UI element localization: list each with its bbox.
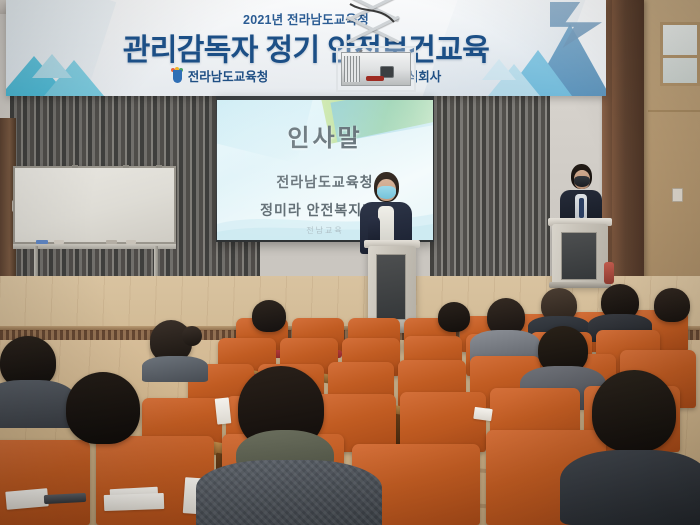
projector-cable-connector: [366, 76, 384, 81]
attendee-hair-bun-a4: [182, 326, 202, 346]
seat-row-e-1[interactable]: [0, 440, 90, 525]
event-banner: 2021년 전라남도교육청 관리감독자 정기 안전보건교육 전라남도교육청 안 …: [6, 0, 606, 96]
jeonnam-education-office-logo-icon: [171, 68, 184, 83]
attendee-head-a2: [66, 372, 140, 444]
attendee-shoulders-a4: [142, 356, 208, 382]
whiteboard-marker-grey[interactable]: [106, 240, 117, 244]
side-staff-tie: [579, 198, 584, 218]
ceiling-projector-assembly: [332, 0, 420, 92]
attendee-shoulders-a3: [0, 380, 76, 428]
main-podium-panel: [376, 254, 406, 320]
fire-extinguisher: [604, 262, 614, 284]
side-staff-face-mask: [574, 176, 590, 187]
handout-paper-d-2[interactable]: [473, 407, 492, 421]
banner-text-block: 2021년 전라남도교육청 관리감독자 정기 안전보건교육 전라남도교육청 안 …: [6, 0, 606, 96]
mobile-whiteboard: [13, 166, 176, 244]
projector-vent-icon: [344, 56, 360, 82]
banner-org-left-group: 전라남도교육청: [171, 66, 269, 85]
attendee-head-a7: [438, 302, 470, 332]
attendee-shoulders-a1: [196, 460, 382, 525]
presenter-face-mask: [377, 186, 396, 199]
whiteboard-clip-1: [72, 165, 78, 168]
wall-trim-line: [648, 110, 700, 112]
handout-paper-d-1[interactable]: [215, 397, 232, 424]
whiteboard-clip-3: [156, 165, 162, 168]
banner-organization-row: 전라남도교육청 안 주식회사: [6, 66, 606, 85]
auditorium-scene: 2021년 전라남도교육청 관리감독자 정기 안전보건교육 전라남도교육청 안 …: [0, 0, 700, 525]
handout-paper-e-3[interactable]: [104, 493, 165, 511]
window-mullion: [663, 55, 697, 58]
slide-title: 인사말: [217, 118, 433, 153]
attendee-shoulders-a12: [560, 450, 700, 525]
whiteboard-marker-blue[interactable]: [36, 240, 48, 244]
attendee-head-a12: [592, 370, 676, 452]
seat-row-d-4[interactable]: [400, 392, 486, 452]
whiteboard-marker-white[interactable]: [126, 240, 136, 244]
banner-main-title: 관리감독자 정기 안전보건교육: [6, 25, 606, 69]
wall-outlet: [672, 188, 683, 202]
side-podium-panel: [561, 232, 597, 280]
attendee-head-a11: [252, 300, 286, 332]
window-right: [660, 22, 700, 86]
banner-org-left-label: 전라남도교육청: [188, 66, 269, 85]
acoustic-slat-wall-center: [430, 88, 550, 276]
whiteboard-clip-2: [123, 165, 129, 168]
handout-paper-e-1[interactable]: [5, 488, 48, 510]
whiteboard-eraser[interactable]: [54, 240, 64, 244]
presenter: [358, 172, 414, 250]
attendee-head-a10: [654, 288, 690, 322]
